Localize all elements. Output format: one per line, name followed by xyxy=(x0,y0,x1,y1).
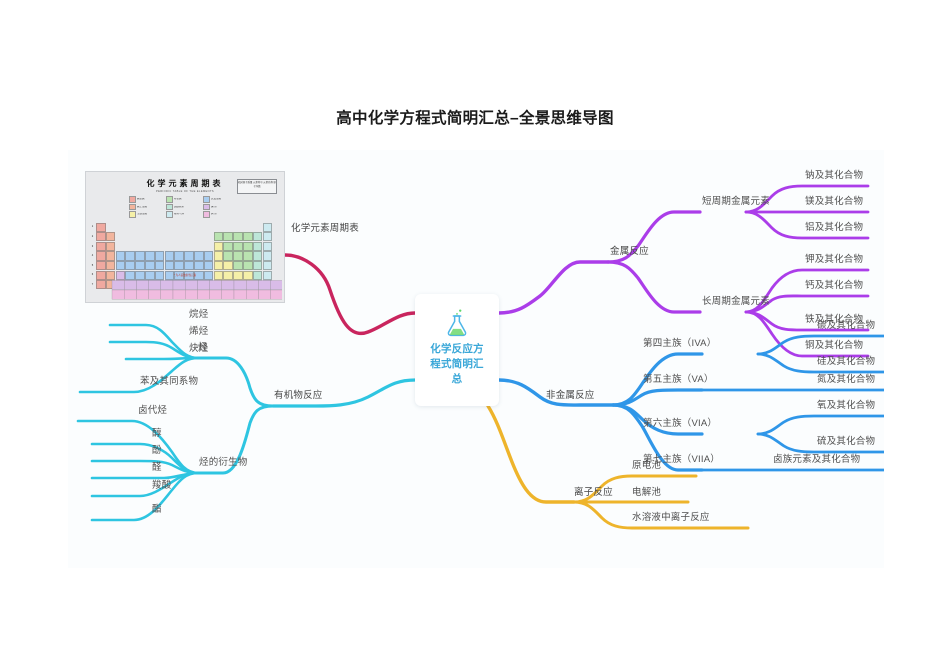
periodic-cell xyxy=(223,232,233,241)
periodic-table-legend: 碱金属非金属过渡金属碱土金属卤族元素镧 系主族金属稀有气体锕 系 xyxy=(129,196,241,218)
periodic-legend-item: 主族金属 xyxy=(129,211,162,218)
node-long-period-metals[interactable]: 长周期金属元素 xyxy=(702,296,770,308)
periodic-legend-label: 非金属 xyxy=(174,198,182,201)
node-short-period-metals[interactable]: 短周期金属元素 xyxy=(702,196,770,208)
periodic-inner-cell xyxy=(149,290,161,299)
periodic-legend-item: 碱土金属 xyxy=(129,204,162,211)
node-aluminium-compounds[interactable]: 铝及其化合物 xyxy=(805,222,863,234)
periodic-inner-cell xyxy=(271,290,282,299)
periodic-cell xyxy=(116,261,126,270)
periodic-inner-cell xyxy=(210,280,222,289)
node-magnesium-compounds[interactable]: 镁及其化合物 xyxy=(805,196,863,208)
periodic-cell xyxy=(263,242,273,251)
periodic-cell xyxy=(243,251,253,260)
periodic-cell xyxy=(96,242,106,251)
periodic-cell xyxy=(116,251,126,260)
periodic-table-image[interactable]: 化学元素周期表 PERIODIC TABLE OF THE ELEMENTS 相… xyxy=(85,171,285,303)
central-node[interactable]: 化学反应方程式简明汇总 xyxy=(415,294,499,406)
periodic-cell xyxy=(145,261,155,270)
periodic-inner-cell xyxy=(246,290,258,299)
node-sulfur-compounds[interactable]: 硫及其化合物 xyxy=(817,436,875,448)
periodic-cell xyxy=(214,242,224,251)
periodic-inner-cell xyxy=(258,280,270,289)
edge-group-va xyxy=(613,390,702,405)
node-metal-reactions[interactable]: 金属反应 xyxy=(610,246,649,258)
edge-alkane xyxy=(110,325,198,358)
periodic-row-label: 5 xyxy=(90,264,95,267)
periodic-row-label: 4 xyxy=(90,254,95,257)
periodic-legend-label: 碱土金属 xyxy=(137,206,147,209)
node-hydrocarbon-derivatives[interactable]: 烃的衍生物 xyxy=(199,457,248,469)
periodic-cell xyxy=(184,251,194,260)
periodic-cell xyxy=(194,261,204,270)
periodic-cell xyxy=(214,261,224,270)
periodic-cell xyxy=(96,223,106,232)
node-alkene[interactable]: 烯烃 xyxy=(189,326,208,338)
periodic-inner-cell xyxy=(112,290,124,299)
periodic-inner-cell xyxy=(161,290,173,299)
periodic-inner-cell xyxy=(149,280,161,289)
edge-metal-long xyxy=(608,262,700,312)
periodic-cell xyxy=(174,251,184,260)
node-aldehyde[interactable]: 醛 xyxy=(152,462,162,474)
periodic-inner-cell xyxy=(271,280,282,289)
periodic-cell xyxy=(194,251,204,260)
periodic-inner-cell xyxy=(161,280,173,289)
node-aqueous-ionic-reaction[interactable]: 水溶液中离子反应 xyxy=(632,512,710,524)
periodic-cell xyxy=(243,242,253,251)
periodic-inner-cell xyxy=(185,280,197,289)
periodic-cell xyxy=(125,251,135,260)
node-group-iva[interactable]: 第四主族（IVA） xyxy=(643,338,716,350)
edge-oxygen xyxy=(758,416,884,434)
periodic-cell xyxy=(135,251,145,260)
node-haloalkane[interactable]: 卤代烃 xyxy=(138,405,167,417)
periodic-inner-cell xyxy=(197,280,209,289)
periodic-legend-label: 镧 系 xyxy=(211,206,217,209)
edge-phenol xyxy=(92,461,198,473)
periodic-inner-cell xyxy=(112,280,124,289)
periodic-cell xyxy=(106,242,116,251)
node-halogen-compounds[interactable]: 卤族元素及其化合物 xyxy=(773,454,860,466)
periodic-legend-item: 卤族元素 xyxy=(166,204,199,211)
periodic-legend-swatch xyxy=(129,211,136,218)
periodic-cell xyxy=(253,261,263,270)
node-carboxylic-acid[interactable]: 羧酸 xyxy=(152,480,171,492)
periodic-table-lanthanide-block xyxy=(90,280,282,300)
periodic-inner-cell xyxy=(173,280,185,289)
flask-icon xyxy=(444,308,470,338)
node-ester[interactable]: 酯 xyxy=(152,504,162,516)
periodic-cell xyxy=(253,251,263,260)
periodic-legend-swatch xyxy=(203,196,210,203)
periodic-inner-cell xyxy=(246,280,258,289)
periodic-inner-cell xyxy=(136,290,148,299)
periodic-inner-cell xyxy=(173,290,185,299)
periodic-cell xyxy=(243,261,253,270)
periodic-inner-cell xyxy=(197,290,209,299)
edge-haloalkane xyxy=(78,421,198,473)
periodic-legend-swatch xyxy=(166,211,173,218)
periodic-table-infobox: 相对原子质量 元素符号 元素名称 原子序数 xyxy=(237,179,277,194)
page-title: 高中化学方程式简明汇总–全景思维导图 xyxy=(0,106,950,128)
periodic-cell xyxy=(253,242,263,251)
periodic-inner-cell xyxy=(210,290,222,299)
periodic-cell xyxy=(96,232,106,241)
periodic-legend-swatch xyxy=(129,196,136,203)
node-alcohol[interactable]: 醇 xyxy=(152,428,162,440)
periodic-inner-cell xyxy=(124,280,136,289)
periodic-legend-swatch xyxy=(166,204,173,211)
periodic-legend-swatch xyxy=(129,204,136,211)
periodic-legend-label: 卤族元素 xyxy=(174,206,184,209)
periodic-cell xyxy=(106,261,116,270)
node-copper-compounds[interactable]: 铜及其化合物 xyxy=(805,340,863,352)
node-sodium-compounds[interactable]: 钠及其化合物 xyxy=(805,170,863,182)
periodic-legend-item: 碱金属 xyxy=(129,196,162,203)
periodic-cell xyxy=(214,232,224,241)
periodic-cell xyxy=(223,251,233,260)
edge-ester xyxy=(92,473,198,520)
periodic-cell xyxy=(165,251,175,260)
edge-ionic-main xyxy=(488,406,574,502)
node-galvanic-cell[interactable]: 原电池 xyxy=(632,460,661,472)
periodic-inner-cell xyxy=(258,290,270,299)
periodic-cell xyxy=(233,251,243,260)
periodic-cell xyxy=(96,261,106,270)
periodic-cell xyxy=(165,261,175,270)
periodic-inner-cell xyxy=(124,290,136,299)
periodic-row-label: 3 xyxy=(90,245,95,248)
periodic-cell xyxy=(155,261,165,270)
node-silicon-compounds[interactable]: 硅及其化合物 xyxy=(817,356,875,368)
periodic-legend-label: 锕 系 xyxy=(211,213,217,216)
periodic-row-label: 1 xyxy=(90,225,95,228)
node-group-va[interactable]: 第五主族（VA） xyxy=(643,374,714,386)
edge-organic-hydrocarbon xyxy=(198,358,273,406)
periodic-table-footnote: * 为人造放射性元素 xyxy=(86,273,284,277)
node-nitrogen-compounds[interactable]: 氮及其化合物 xyxy=(817,374,875,386)
mindmap-canvas: 化学元素周期表 PERIODIC TABLE OF THE ELEMENTS 相… xyxy=(68,150,884,568)
node-calcium-compounds[interactable]: 钙及其化合物 xyxy=(805,280,863,292)
node-benzene-homologs[interactable]: 苯及其同系物 xyxy=(140,376,198,388)
edge-carboxylic xyxy=(92,473,198,496)
periodic-legend-label: 碱金属 xyxy=(137,198,145,201)
periodic-cell xyxy=(263,251,273,260)
periodic-cell xyxy=(214,251,224,260)
periodic-inner-cell xyxy=(185,290,197,299)
node-electrolytic-cell[interactable]: 电解池 xyxy=(632,487,661,499)
periodic-legend-swatch xyxy=(203,204,210,211)
periodic-inner-cell xyxy=(136,280,148,289)
periodic-cell xyxy=(263,261,273,270)
periodic-row-label: 2 xyxy=(90,235,95,238)
periodic-cell xyxy=(233,242,243,251)
periodic-cell xyxy=(96,251,106,260)
periodic-inner-cell xyxy=(222,290,234,299)
periodic-cell xyxy=(184,261,194,270)
periodic-cell xyxy=(204,251,214,260)
edge-metal-main xyxy=(499,262,608,313)
periodic-legend-item: 过渡金属 xyxy=(203,196,236,203)
edge-alcohol xyxy=(92,444,198,473)
node-potassium-compounds[interactable]: 钾及其化合物 xyxy=(805,254,863,266)
node-alkane[interactable]: 烷烃 xyxy=(189,309,208,321)
periodic-legend-item: 镧 系 xyxy=(203,204,236,211)
periodic-legend-label: 主族金属 xyxy=(137,213,147,216)
periodic-inner-cell xyxy=(222,280,234,289)
edge-alkene xyxy=(110,342,198,358)
periodic-legend-item: 锕 系 xyxy=(203,211,236,218)
node-alkyne[interactable]: 炔烃 xyxy=(189,343,208,355)
periodic-legend-swatch xyxy=(203,211,210,218)
node-group-via[interactable]: 第六主族（VIA） xyxy=(643,418,717,430)
node-nonmetal-reactions[interactable]: 非金属反应 xyxy=(546,390,595,402)
periodic-inner-cell xyxy=(234,280,246,289)
periodic-cell xyxy=(243,232,253,241)
periodic-cell xyxy=(106,251,116,260)
central-node-label: 化学反应方程式简明汇总 xyxy=(426,342,488,388)
periodic-cell xyxy=(263,223,273,232)
node-oxygen-compounds[interactable]: 氧及其化合物 xyxy=(817,400,875,412)
periodic-cell xyxy=(204,261,214,270)
node-periodic-table[interactable]: 化学元素周期表 xyxy=(291,223,359,235)
node-phenol[interactable]: 酚 xyxy=(152,445,162,457)
periodic-cell xyxy=(233,261,243,270)
node-carbon-compounds[interactable]: 碳及其化合物 xyxy=(817,320,875,332)
periodic-cell xyxy=(174,261,184,270)
periodic-legend-item: 稀有气体 xyxy=(166,211,199,218)
periodic-cell xyxy=(253,232,263,241)
periodic-legend-label: 稀有气体 xyxy=(174,213,184,216)
periodic-cell xyxy=(135,261,145,270)
periodic-legend-label: 过渡金属 xyxy=(211,198,221,201)
periodic-legend-item: 非金属 xyxy=(166,196,199,203)
node-ionic-reactions[interactable]: 离子反应 xyxy=(574,487,613,499)
periodic-cell xyxy=(223,242,233,251)
periodic-cell xyxy=(125,261,135,270)
periodic-legend-swatch xyxy=(166,196,173,203)
periodic-inner-cell xyxy=(234,290,246,299)
edge-aldehyde xyxy=(92,473,198,478)
periodic-cell xyxy=(145,251,155,260)
periodic-cell xyxy=(155,251,165,260)
periodic-cell xyxy=(263,232,273,241)
periodic-cell xyxy=(223,261,233,270)
edge-alkyne xyxy=(126,358,198,359)
periodic-cell xyxy=(233,232,243,241)
node-organic-reactions[interactable]: 有机物反应 xyxy=(274,390,323,402)
periodic-cell xyxy=(106,232,116,241)
